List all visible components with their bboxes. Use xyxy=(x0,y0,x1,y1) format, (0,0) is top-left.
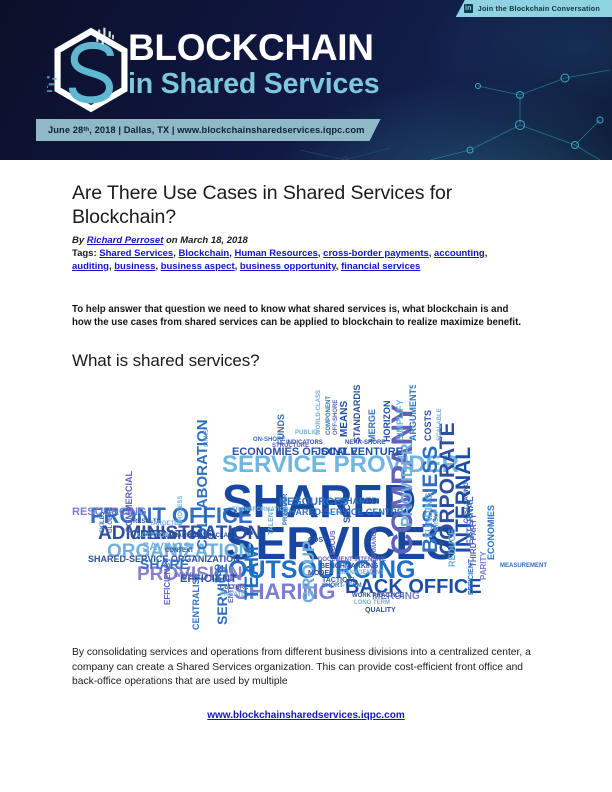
word-cloud-term: GROUP xyxy=(434,509,440,531)
event-banner: in Join the Blockchain Conversation BLOC… xyxy=(0,0,612,160)
tag-link[interactable]: financial services xyxy=(341,261,420,272)
word-cloud-term: SCALABLE xyxy=(437,408,443,441)
tag-link[interactable]: Human Resources xyxy=(234,248,317,259)
word-cloud-term: EFFICIENCY xyxy=(164,558,172,606)
tag-link[interactable]: business opportunity xyxy=(240,261,336,272)
page-title: Are There Use Cases in Shared Services f… xyxy=(72,181,502,229)
linkedin-icon: in xyxy=(464,4,473,13)
word-cloud-term: BENCHMARKING xyxy=(320,563,378,570)
footer-website-link: www.blockchainsharedservices.iqpc.com xyxy=(0,710,612,721)
event-logo-wordmark: BLOCKCHAIN in Shared Services xyxy=(128,28,379,100)
word-cloud-term: TALENT xyxy=(268,508,275,535)
word-cloud-figure: SHAREDSERVICESOUTSOURCINGSERVICE PROVIDE… xyxy=(0,385,612,640)
word-cloud-term: OFF-SHORE xyxy=(333,400,339,435)
word-cloud-term: MEANS xyxy=(340,401,350,437)
linkedin-cta-label: Join the Blockchain Conversation xyxy=(478,4,600,13)
word-cloud-term: PARITY xyxy=(480,551,488,580)
event-date-prefix: June 28 xyxy=(48,125,83,135)
word-cloud-term: LINKS xyxy=(204,429,210,447)
word-cloud-term: SHARED xyxy=(340,497,378,506)
hexagon-s-logo-icon xyxy=(47,26,135,114)
linkedin-cta[interactable]: in Join the Blockchain Conversation xyxy=(456,0,612,17)
tag-link[interactable]: cross-border payments xyxy=(323,248,429,259)
word-cloud-term: SHORT-TERM xyxy=(322,583,362,589)
tag-link[interactable]: business xyxy=(114,261,155,272)
word-cloud-term: CULTURE xyxy=(220,585,248,591)
tag-list: Tags: Shared Services, Blockchain, Human… xyxy=(72,248,528,273)
word-cloud-term: STANDARDISE xyxy=(353,385,362,443)
word-cloud-term: BEST-IN-CLASS xyxy=(190,533,236,539)
word-cloud-term: GLOBAL xyxy=(108,508,114,533)
byline-prefix: By xyxy=(72,235,87,246)
word-cloud-term: ECONOMIES xyxy=(487,505,496,560)
tag-link[interactable]: Blockchain xyxy=(179,248,230,259)
word-cloud-term: COSTS xyxy=(424,410,433,441)
tag-link[interactable]: Shared Services xyxy=(99,248,173,259)
word-cloud-term: PERFORMANCE xyxy=(372,528,378,575)
tag-link[interactable]: auditing xyxy=(72,261,109,272)
word-cloud-term: RESOURCES xyxy=(279,497,349,508)
word-cloud-term: REDUCE xyxy=(448,529,457,567)
tags-label: Tags: xyxy=(72,248,99,259)
event-date-venue-bar: June 28th, 2018 | Dallas, TX | www.block… xyxy=(36,119,381,141)
intro-paragraph: To help answer that question we need to … xyxy=(72,303,524,329)
word-cloud-term: PROVIDER xyxy=(283,494,289,525)
word-cloud-term: MERGE xyxy=(368,409,377,442)
word-cloud-term: SIMPLIFY xyxy=(396,400,405,442)
shared-services-word-cloud: SHAREDSERVICESOUTSOURCINGSERVICE PROVIDE… xyxy=(0,385,612,640)
event-website-link[interactable]: www.blockchainsharedservices.iqpc.com xyxy=(207,710,405,721)
tag-link[interactable]: accounting xyxy=(434,248,485,259)
byline-date: on March 18, 2018 xyxy=(163,235,247,246)
closing-paragraph: By consolidating services and operations… xyxy=(0,646,612,690)
tag-links: Shared Services, Blockchain, Human Resou… xyxy=(72,248,487,272)
word-cloud-term: CONTEXT xyxy=(165,548,194,554)
article-content: Are There Use Cases in Shared Services f… xyxy=(0,160,612,721)
word-cloud-term: ARGUMENTS xyxy=(409,385,418,441)
word-cloud-term: CENTRALISE xyxy=(192,573,201,631)
word-cloud-term: SKILLS xyxy=(100,512,106,533)
word-cloud-term: PROCESS xyxy=(178,496,184,525)
tag-link[interactable]: business aspect xyxy=(161,261,235,272)
word-cloud-term: TRANSFORMATION xyxy=(232,507,289,513)
word-cloud-term: WORK PRACTICE xyxy=(352,593,403,599)
section-heading: What is shared services? xyxy=(72,351,540,371)
word-cloud-term: COMPONENT xyxy=(326,396,332,435)
word-cloud-term: EFFICIENT xyxy=(468,559,475,595)
author-link[interactable]: Richard Perroset xyxy=(87,235,164,246)
logo-subtitle: in Shared Services xyxy=(128,69,379,100)
word-cloud-term: LONG TERM xyxy=(354,600,390,606)
word-cloud-term: FOCUS xyxy=(330,531,337,556)
word-cloud-term: PRIVATE xyxy=(220,592,245,598)
word-cloud-term: HORIZON xyxy=(383,401,392,443)
logo-title: BLOCKCHAIN xyxy=(128,28,379,68)
word-cloud-term: WORLD-CLASS xyxy=(316,390,322,435)
article-head: Are There Use Cases in Shared Services f… xyxy=(0,181,612,371)
byline: By Richard Perroset on March 18, 2018 xyxy=(72,235,540,247)
word-cloud-term: PUBLIC xyxy=(295,430,317,436)
word-cloud-term: TEAM xyxy=(243,546,262,600)
event-venue-url: , 2018 | Dallas, TX | www.blockchainshar… xyxy=(89,125,364,135)
word-cloud-term: MODEL xyxy=(308,570,333,577)
word-cloud-term: QUALITY xyxy=(365,607,396,614)
word-cloud-term: MEASUREMENT xyxy=(500,563,547,569)
word-cloud-term: STRUCTURE xyxy=(272,443,309,449)
word-cloud-term: COST xyxy=(308,537,327,544)
word-cloud-term: NEAR-SHORE xyxy=(345,440,385,446)
word-cloud-term: COST SAVING xyxy=(464,482,470,523)
word-cloud-term: SSC xyxy=(343,505,352,524)
word-cloud-term: WORD xyxy=(175,573,194,579)
word-cloud-term: JOINT VENTURE xyxy=(315,447,403,458)
word-cloud-term: LOCATION xyxy=(138,533,169,539)
